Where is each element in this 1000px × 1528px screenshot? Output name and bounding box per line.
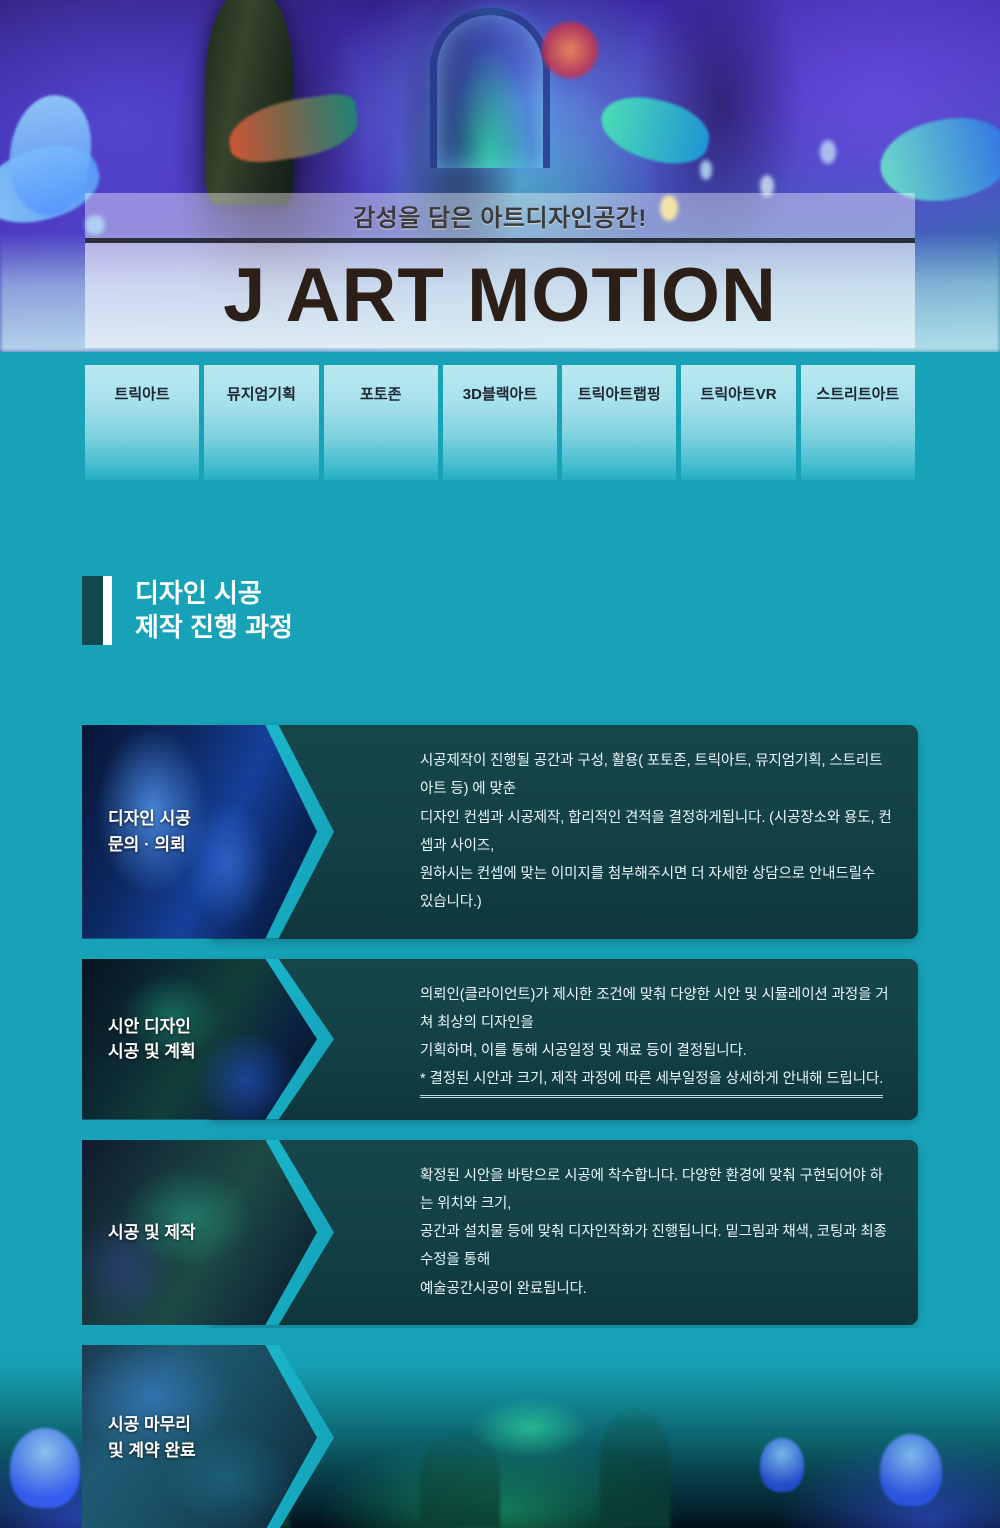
heading-line-1: 디자인 시공 [135, 576, 293, 610]
step-label-line-1: 시안 디자인 [108, 1014, 196, 1040]
process-step: 시공제작이 진행될 공간과 구성, 활용( 포토존, 트릭아트, 뮤지엄기획, … [82, 725, 918, 939]
step-label-line-1: 디자인 시공 [108, 806, 191, 832]
step-label-text: 디자인 시공 문의 · 의뢰 [108, 806, 191, 857]
tab-label: 포토존 [360, 383, 401, 480]
step-label-text: 시안 디자인 시공 및 계획 [108, 1014, 196, 1065]
brand-title-banner: J ART MOTION [85, 243, 915, 348]
step-body-text: 시공제작이 진행될 공간과 구성, 활용( 포토존, 트릭아트, 뮤지엄기획, … [420, 747, 892, 917]
tagline-text: 감성을 담은 아트디자인공간! [353, 198, 647, 233]
step-body-text: 확정된 시안을 바탕으로 시공에 착수합니다. 다양한 환경에 맞춰 구현되어야… [420, 1162, 892, 1303]
tab-trick-art-wrapping[interactable]: 트릭아트랩핑 [562, 365, 676, 480]
heading-accent-bar-light [103, 576, 112, 645]
mural-flower [540, 20, 600, 80]
process-step: 의뢰인(클라이언트)가 제시한 조건에 맞춰 다양한 시안 및 시뮬레이션 과정… [82, 959, 918, 1120]
tab-label: 뮤지엄기획 [227, 383, 296, 480]
process-step: 확정된 시안을 바탕으로 시공에 착수합니다. 다양한 환경에 맞춰 구현되어야… [82, 1140, 918, 1325]
mural-jellyfish [10, 1428, 80, 1508]
heading-accent-bar-dark [82, 576, 103, 645]
mural-light-orb [700, 160, 712, 180]
section-heading: 디자인 시공 제작 진행 과정 [82, 576, 293, 645]
step-label-text: 시공 및 제작 [108, 1220, 196, 1246]
step-label-line-1: 시공 마무리 [108, 1412, 196, 1438]
mural-jellyfish [760, 1438, 804, 1492]
step-label-line-1: 시공 및 제작 [108, 1220, 196, 1246]
step-body-line: 기획하며, 이를 통해 시공일정 및 재료 등이 결정됩니다. [420, 1037, 892, 1065]
step-label-line-2: 문의 · 의뢰 [108, 832, 191, 858]
step-body-line: 디자인 컨셉과 시공제작, 합리적인 견적을 결정하게됩니다. (시공장소와 용… [420, 804, 892, 861]
step-label-text: 시공 마무리 및 계약 완료 [108, 1412, 196, 1463]
tab-label: 트릭아트랩핑 [578, 383, 661, 480]
mural-kelp [600, 1408, 670, 1528]
step-label-line-2: 시공 및 계획 [108, 1039, 196, 1065]
tab-street-art[interactable]: 스트리트아트 [801, 365, 915, 480]
step-body-text: 의뢰인(클라이언트)가 제시한 조건에 맞춰 다양한 시안 및 시뮬레이션 과정… [420, 981, 892, 1098]
tab-trick-art[interactable]: 트릭아트 [85, 365, 199, 480]
step-body-line: 시공제작이 진행될 공간과 구성, 활용( 포토존, 트릭아트, 뮤지엄기획, … [420, 747, 892, 804]
tagline-banner: 감성을 담은 아트디자인공간! [85, 193, 915, 238]
landing-page: 감성을 담은 아트디자인공간! J ART MOTION 트릭아트 뮤지엄기획 … [0, 0, 1000, 1528]
tab-3d-black-art[interactable]: 3D블랙아트 [443, 365, 557, 480]
heading-text-block: 디자인 시공 제작 진행 과정 [135, 576, 293, 645]
tab-label: 스트리트아트 [816, 383, 899, 480]
category-tab-bar[interactable]: 트릭아트 뮤지엄기획 포토존 3D블랙아트 트릭아트랩핑 트릭아트VR 스트리트… [85, 365, 915, 480]
tab-label: 트릭아트VR [701, 383, 777, 480]
step-body-line-emphasis: * 결정된 시안과 크기, 제작 과정에 따른 세부일정을 상세하게 안내해 드… [420, 1065, 892, 1097]
mural-light-orb [820, 140, 836, 164]
step-body-line: 공간과 설치물 등에 맞춰 디자인작화가 진행됩니다. 밑그림과 채색, 코팅과… [420, 1218, 892, 1275]
heading-line-2: 제작 진행 과정 [135, 610, 293, 644]
tab-museum-planning[interactable]: 뮤지엄기획 [204, 365, 318, 480]
step-label-line-2: 및 계약 완료 [108, 1438, 196, 1464]
step-body-line: 의뢰인(클라이언트)가 제시한 조건에 맞춰 다양한 시안 및 시뮬레이션 과정… [420, 981, 892, 1038]
step-body-line: 원하시는 컨셉에 맞는 이미지를 첨부해주시면 더 자세한 상담으로 안내드릴수… [420, 860, 892, 917]
tab-label: 3D블랙아트 [463, 383, 537, 480]
step-body-line: 확정된 시안을 바탕으로 시공에 착수합니다. 다양한 환경에 맞춰 구현되어야… [420, 1162, 892, 1219]
tab-label: 트릭아트 [115, 383, 170, 480]
mural-stone-arch [430, 8, 550, 168]
step-body-line: 예술공간시공이 완료됩니다. [420, 1275, 892, 1303]
tab-trick-art-vr[interactable]: 트릭아트VR [681, 365, 795, 480]
mural-jellyfish [880, 1434, 942, 1506]
mural-glow [470, 1398, 590, 1458]
brand-title: J ART MOTION [223, 258, 777, 334]
tab-photo-zone[interactable]: 포토존 [324, 365, 438, 480]
step-note-underlined: * 결정된 시안과 크기, 제작 과정에 따른 세부일정을 상세하게 안내해 드… [420, 1065, 883, 1097]
